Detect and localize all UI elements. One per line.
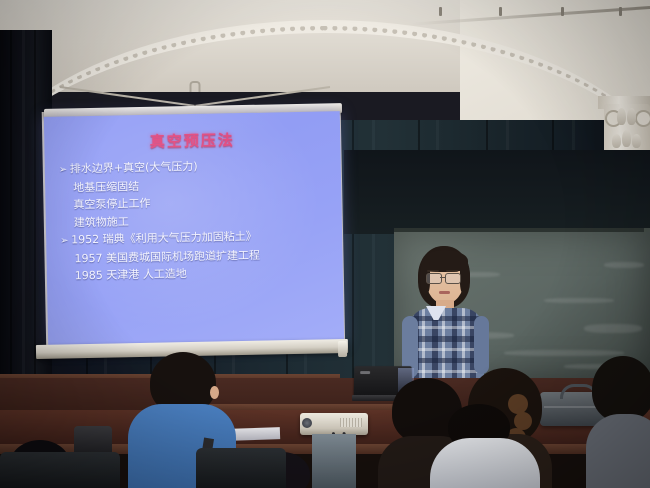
slide-line-text: 真空泵停止工作 bbox=[73, 197, 150, 211]
seat-back bbox=[196, 448, 286, 488]
glasses-icon bbox=[426, 273, 442, 284]
lecture-photo: 真空预压法 ➢排水边界+真空(大气压力) 地基压缩固结 真空泵停止工作 建筑物施… bbox=[0, 0, 650, 488]
bullet-icon: ➢ bbox=[60, 232, 71, 250]
rail-hook-icon bbox=[499, 7, 502, 16]
slide-line-text: 1985 天津港 人工造地 bbox=[75, 267, 187, 282]
presenter bbox=[398, 246, 494, 386]
torso bbox=[430, 438, 540, 488]
ear bbox=[210, 386, 219, 399]
presenter-hair-side bbox=[460, 260, 470, 294]
seat-back bbox=[0, 452, 120, 488]
eyebrow bbox=[427, 270, 439, 272]
slide-line-text: 排水边界+真空(大气压力) bbox=[70, 160, 198, 175]
bullet-icon: ➢ bbox=[59, 161, 70, 179]
slide-line-text: 地基压缩固结 bbox=[73, 180, 139, 194]
projector-vent bbox=[340, 418, 362, 427]
stage-backdrop bbox=[344, 150, 650, 234]
audience-member bbox=[430, 404, 540, 488]
presentation-slide: 真空预压法 ➢排水边界+真空(大气压力) 地基压缩固结 真空泵停止工作 建筑物施… bbox=[44, 111, 344, 349]
rail-hook-icon bbox=[619, 7, 622, 16]
rail-hook-icon bbox=[561, 7, 564, 16]
slide-body: ➢排水边界+真空(大气压力) 地基压缩固结 真空泵停止工作 建筑物施工 ➢195… bbox=[59, 155, 335, 285]
audience-member bbox=[586, 356, 650, 488]
glasses-bridge bbox=[440, 277, 445, 278]
rail-hook-icon bbox=[439, 7, 442, 16]
slide-line-text: 1952 瑞典《利用大气压力加固粘土》 bbox=[71, 230, 257, 247]
glasses-icon bbox=[445, 273, 461, 284]
screen-hook-icon bbox=[190, 81, 201, 92]
torso bbox=[586, 414, 650, 488]
presenter-arm bbox=[474, 316, 489, 374]
screen-pull-knob[interactable] bbox=[338, 341, 347, 357]
projection-screen: 真空预压法 ➢排水边界+真空(大气压力) 地基压缩固结 真空泵停止工作 建筑物施… bbox=[44, 111, 344, 349]
slide-title: 真空预压法 bbox=[44, 127, 340, 154]
slide-line-text: 1957 美国费城国际机场跑道扩建工程 bbox=[74, 248, 260, 265]
head bbox=[592, 356, 650, 422]
eyebrow bbox=[446, 270, 458, 272]
presenter-mouth bbox=[439, 291, 450, 294]
projector-lens-icon bbox=[302, 418, 312, 428]
laptop-logo bbox=[360, 371, 370, 374]
slide-line-text: 建筑物施工 bbox=[74, 215, 129, 229]
